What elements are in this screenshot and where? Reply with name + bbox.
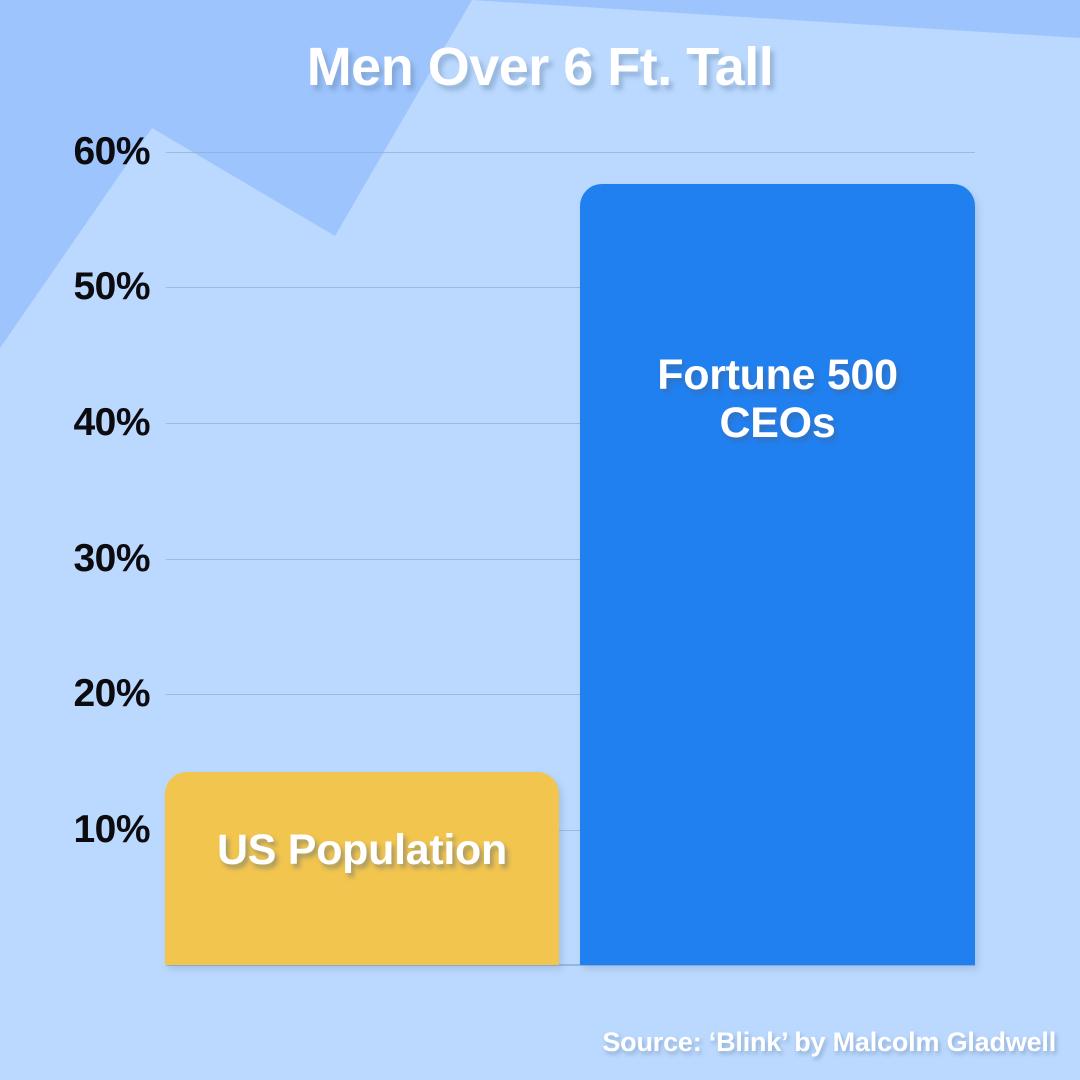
source-note: Source: ‘Blink’ by Malcolm Gladwell	[602, 1027, 1056, 1058]
page-title: Men Over 6 Ft. Tall	[0, 36, 1080, 98]
y-axis-tick-30: 30%	[73, 537, 150, 581]
bar-fortune-500-ceos[interactable]	[580, 184, 975, 965]
bar-label-us-population: US Population	[165, 826, 559, 874]
gridline-60	[166, 152, 975, 153]
y-axis-tick-60: 60%	[73, 130, 150, 174]
y-axis-tick-20: 20%	[73, 672, 150, 716]
bar-label-line-2: CEOs	[720, 399, 836, 447]
bar-label-fortune-500-ceos: Fortune 500 CEOs	[580, 351, 975, 447]
y-axis-tick-10: 10%	[73, 808, 150, 852]
bar-label-line-1: Fortune 500	[657, 351, 897, 399]
y-axis-tick-40: 40%	[73, 401, 150, 445]
chart-canvas: Men Over 6 Ft. Tall 60% 50% 40% 30% 20% …	[0, 0, 1080, 1080]
y-axis-tick-50: 50%	[73, 265, 150, 309]
